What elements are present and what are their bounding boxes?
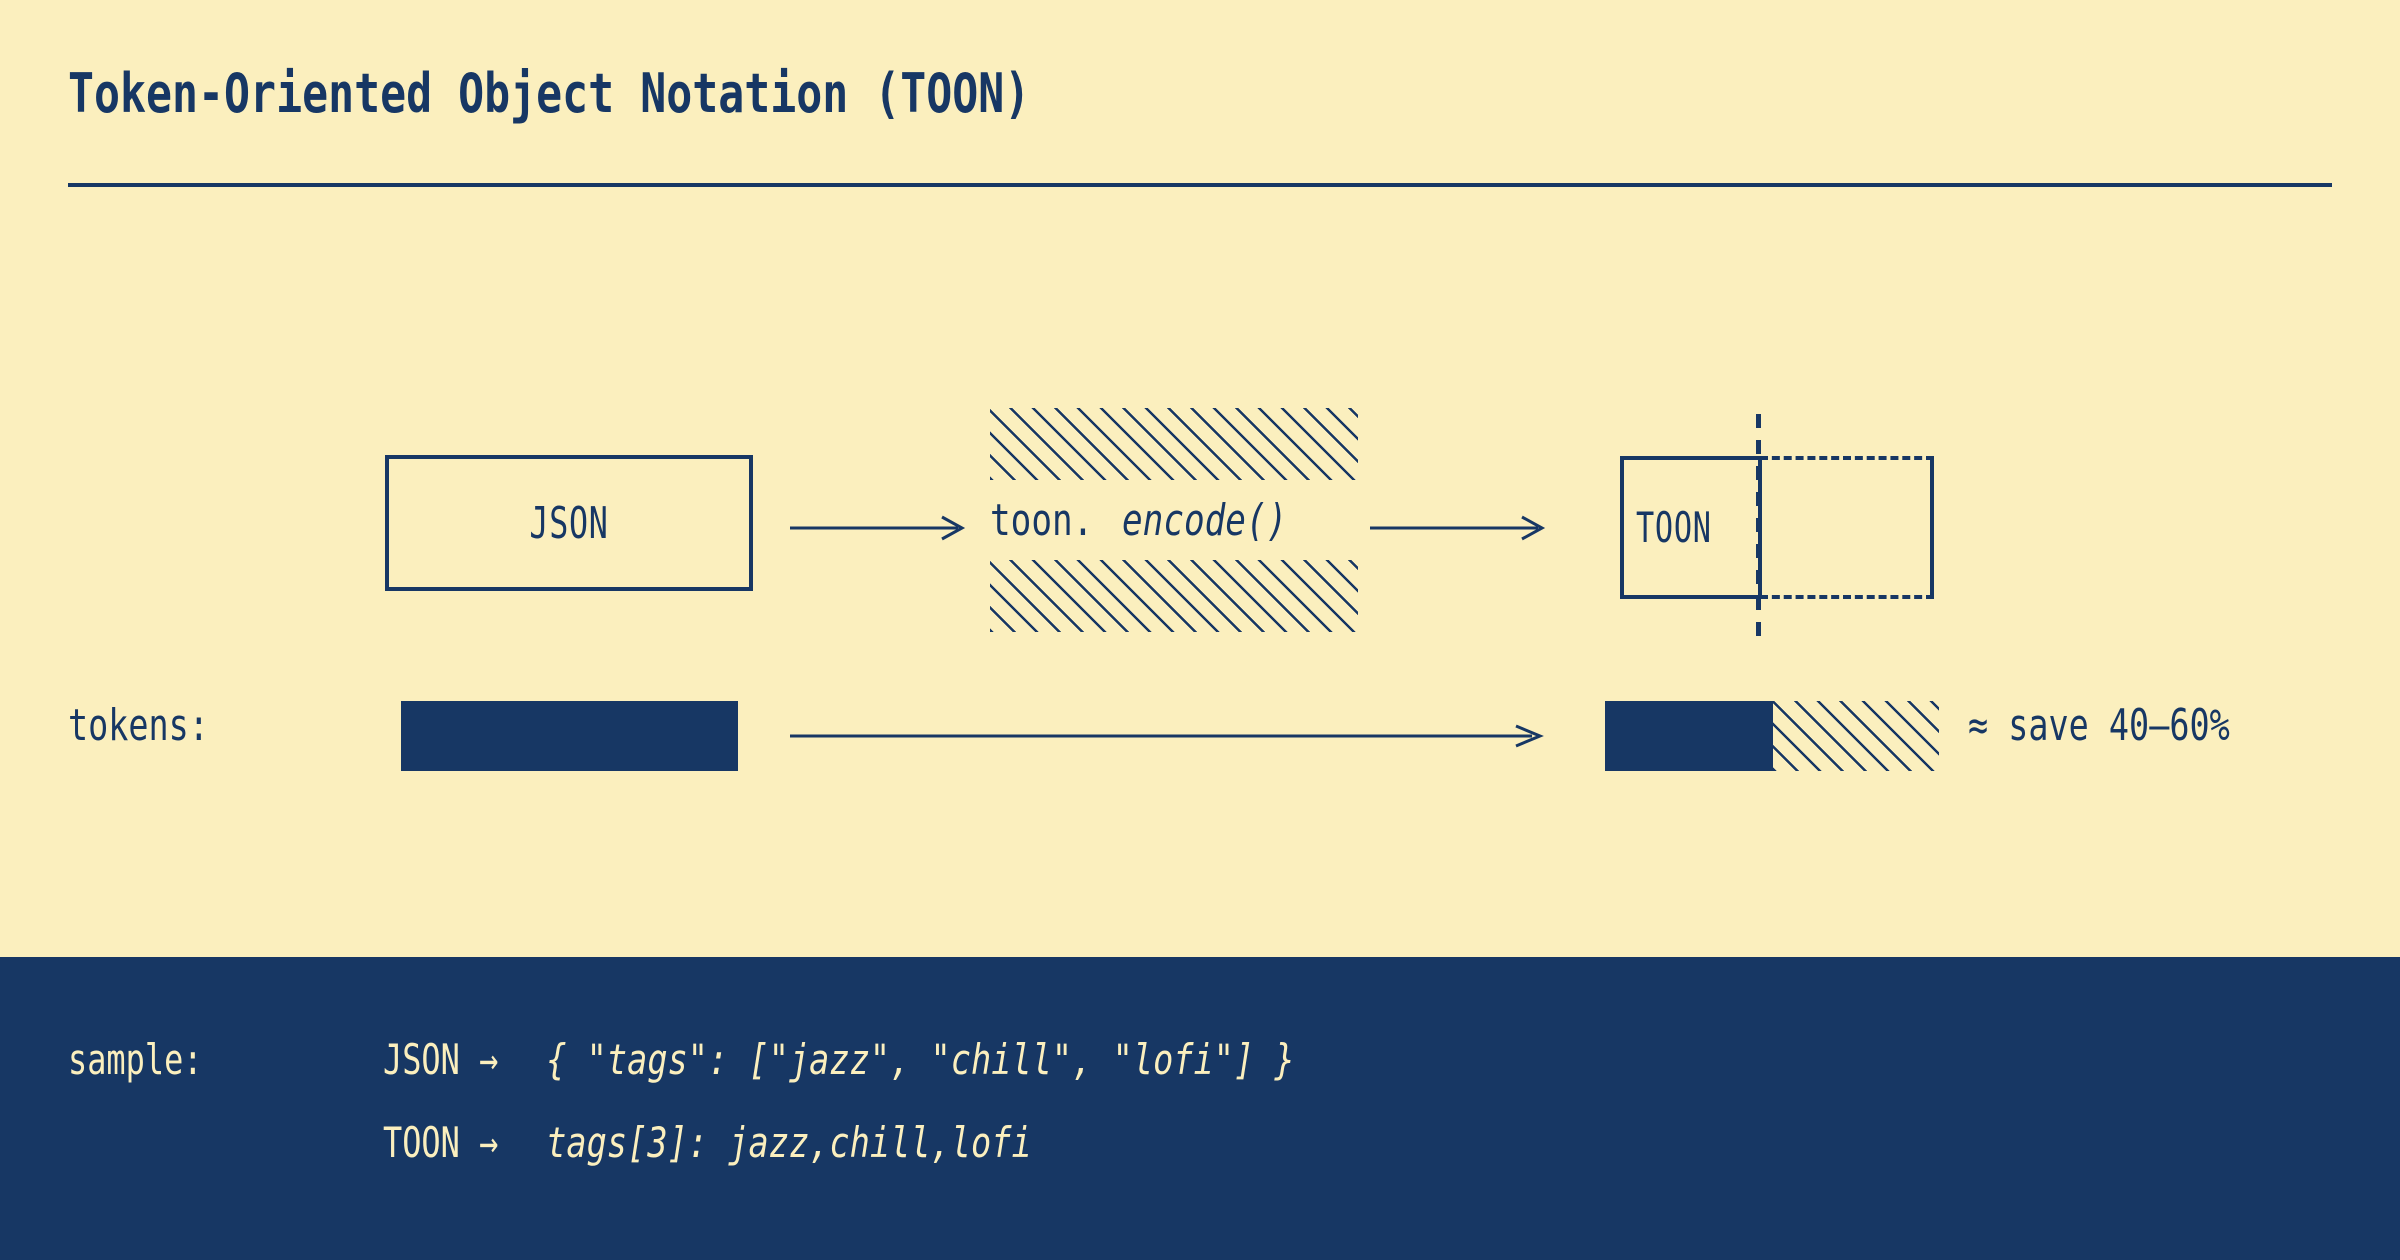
sample-toon-prefix: TOON → xyxy=(383,1118,498,1167)
sample-row-label: sample: xyxy=(68,1035,203,1084)
json-source-box: JSON xyxy=(385,455,753,591)
tokens-bar-toon-saved xyxy=(1773,701,1939,771)
encode-hatch-bottom xyxy=(990,560,1358,632)
arrow-encode-to-toon xyxy=(1370,513,1550,543)
sample-line-toon: TOON →tags[3]: jazz,chill,lofi xyxy=(383,1118,1156,1167)
toon-split-divider xyxy=(1756,414,1761,642)
encode-method-text: encode() xyxy=(1122,495,1287,546)
encode-hatch-top xyxy=(990,408,1358,480)
json-source-label: JSON xyxy=(529,498,608,549)
toon-result-label: TOON xyxy=(1636,503,1712,552)
sample-json-code: { "tags": ["jazz", "chill", "lofi"] } xyxy=(535,1035,1295,1084)
tokens-row-label: tokens: xyxy=(68,700,209,751)
arrow-json-to-encode xyxy=(790,513,970,543)
encode-namespace-text: toon. xyxy=(990,495,1093,546)
sample-band xyxy=(0,957,2400,1260)
sample-line-json: JSON →{ "tags": ["jazz", "chill", "lofi"… xyxy=(383,1035,1484,1084)
encode-call-label: toon.encode() xyxy=(990,483,1358,557)
arrow-tokens-comparison xyxy=(790,721,1550,751)
sample-json-prefix: JSON → xyxy=(383,1035,498,1084)
sample-toon-code: tags[3]: jazz,chill,lofi xyxy=(535,1118,1032,1167)
toon-result-box: TOON xyxy=(1620,456,1762,599)
tokens-bar-toon-used xyxy=(1605,701,1773,771)
tokens-bar-json xyxy=(401,701,738,771)
toon-saved-space-box xyxy=(1760,456,1934,599)
savings-label: ≈ save 40–60% xyxy=(1968,700,2230,751)
